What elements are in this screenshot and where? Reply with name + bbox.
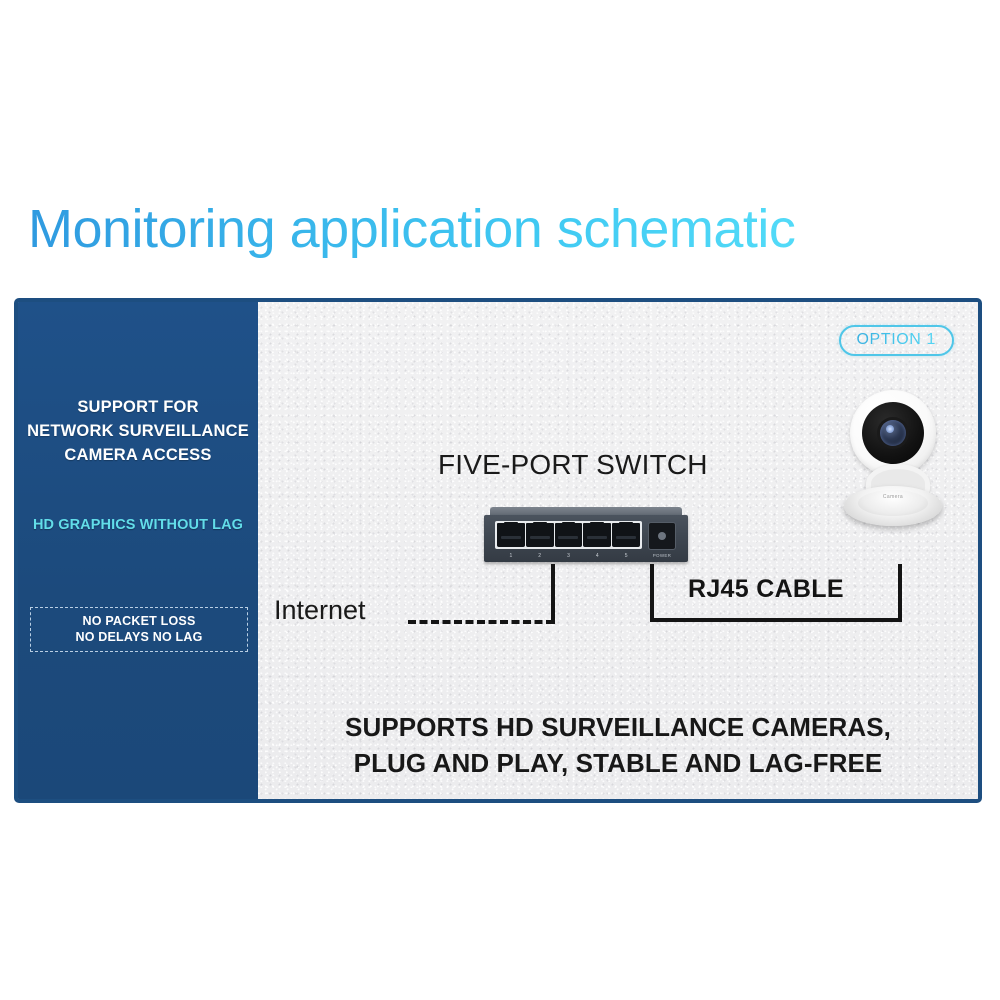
network-switch-icon: 1 2 3 4 5 POWER (484, 507, 688, 565)
switch-body: 1 2 3 4 5 POWER (484, 515, 688, 562)
switch-port-4 (583, 523, 611, 547)
switch-power-label: POWER (646, 551, 678, 561)
bottom-caption: SUPPORTS HD SURVEILLANCE CAMERAS, PLUG A… (258, 709, 978, 781)
rj45-cable-label: RJ45 CABLE (688, 575, 844, 604)
sidebar-panel: SUPPORT FOR NETWORK SURVEILLANCE CAMERA … (18, 302, 258, 799)
switch-port-3 (555, 523, 583, 547)
bottom-caption-line-1: SUPPORTS HD SURVEILLANCE CAMERAS, (258, 709, 978, 745)
option-badge: OPTION 1 (839, 325, 954, 356)
switch-port-strip (495, 521, 642, 549)
switch-title: FIVE-PORT SWITCH (438, 449, 708, 481)
switch-port-number-1: 1 (497, 551, 525, 561)
camera-face (862, 402, 924, 464)
sidebar-subheading: HD GRAPHICS WITHOUT LAG (18, 517, 258, 533)
ip-camera-icon: Camera (838, 390, 948, 530)
switch-port-number-2: 2 (526, 551, 554, 561)
schematic-content: OPTION 1 FIVE-PORT SWITCH 1 2 3 4 5 (258, 302, 978, 799)
switch-port-number-3: 3 (555, 551, 583, 561)
sidebar-guarantee-badge: NO PACKET LOSS NO DELAYS NO LAG (30, 607, 248, 652)
switch-port-2 (526, 523, 554, 547)
switch-port-5 (612, 523, 640, 547)
switch-port-numbers: 1 2 3 4 5 (495, 551, 642, 561)
camera-lens-icon (880, 420, 906, 446)
sidebar-heading-line-1: SUPPORT FOR (18, 395, 258, 419)
sidebar-badge-line-1: NO PACKET LOSS (33, 613, 245, 629)
sidebar-heading-line-2: NETWORK SURVEILLANCE (18, 419, 258, 443)
bottom-caption-line-2: PLUG AND PLAY, STABLE AND LAG-FREE (258, 745, 978, 781)
page-title: Monitoring application schematic (28, 196, 928, 262)
sidebar-heading: SUPPORT FOR NETWORK SURVEILLANCE CAMERA … (18, 395, 258, 467)
switch-power-jack (648, 522, 676, 550)
camera-head (850, 390, 936, 476)
internet-dashed-line (408, 620, 554, 624)
schematic-frame: SUPPORT FOR NETWORK SURVEILLANCE CAMERA … (14, 298, 982, 803)
internet-label: Internet (274, 593, 366, 627)
switch-port-number-4: 4 (583, 551, 611, 561)
sidebar-heading-line-3: CAMERA ACCESS (18, 443, 258, 467)
switch-port-1 (497, 523, 525, 547)
sidebar-badge-line-2: NO DELAYS NO LAG (33, 629, 245, 645)
camera-brand-label: Camera (876, 494, 910, 500)
internet-connector-line (551, 564, 555, 624)
switch-port-number-5: 5 (612, 551, 640, 561)
